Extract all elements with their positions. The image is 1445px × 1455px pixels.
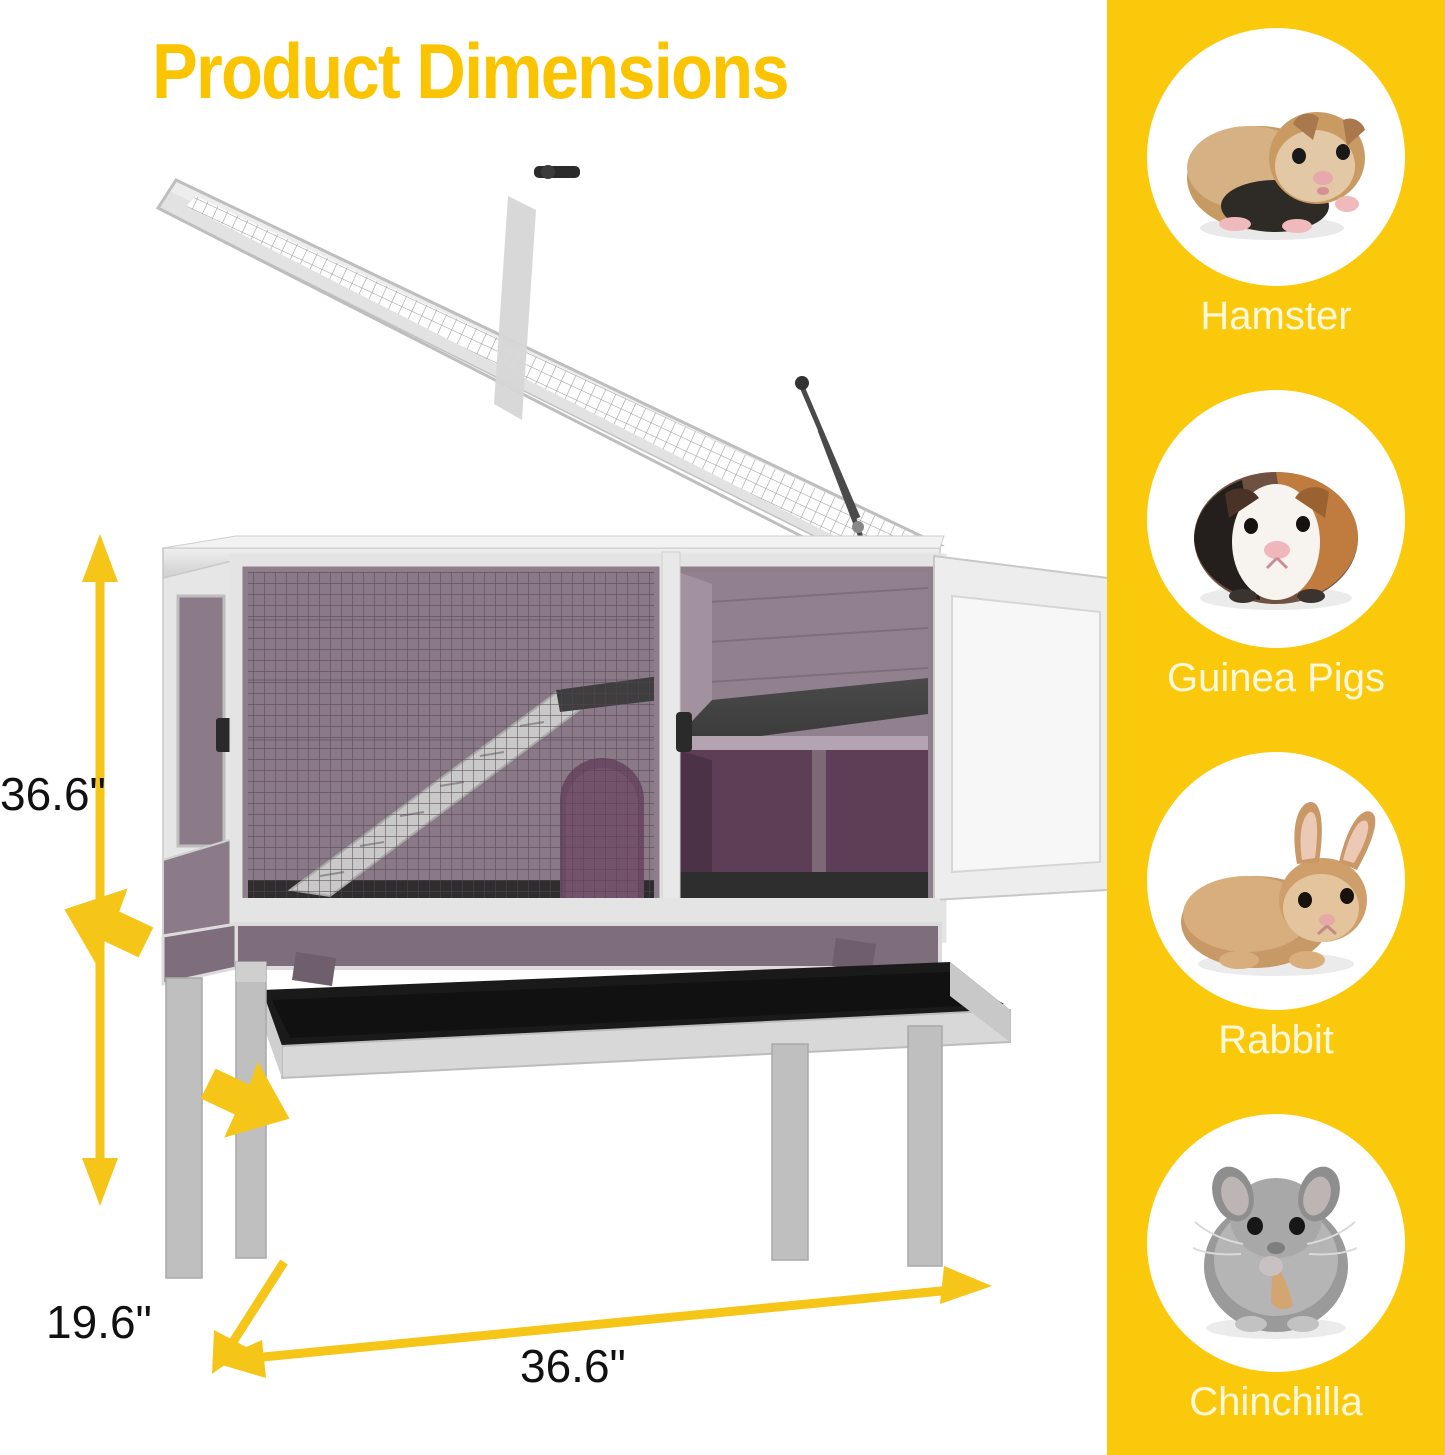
- leg-front-left: [166, 978, 202, 1278]
- pet-label-rabbit: Rabbit: [1107, 1016, 1445, 1064]
- door-latch-icon: [676, 712, 692, 752]
- hamster-icon: [1147, 28, 1405, 286]
- height-dimension-label: 36.6": [0, 768, 106, 820]
- width-dimension-label: 36.6": [520, 1340, 626, 1392]
- pull-out-tray: [262, 962, 1010, 1078]
- pet-card-guinea-pigs: Guinea Pigs: [1107, 390, 1445, 702]
- product-dimensions-infographic: Product Dimensions: [0, 0, 1445, 1455]
- hamster-photo-circle: [1147, 28, 1405, 286]
- guinea-pig-photo-circle: [1147, 390, 1405, 648]
- chinchilla-photo-circle: [1147, 1114, 1405, 1372]
- pet-label-guinea-pigs: Guinea Pigs: [1107, 654, 1445, 702]
- pet-card-rabbit: Rabbit: [1107, 752, 1445, 1064]
- pet-label-hamster: Hamster: [1107, 292, 1445, 340]
- rabbit-photo-circle: [1147, 752, 1405, 1010]
- leg-back-right: [908, 1026, 942, 1266]
- pet-card-chinchilla: Chinchilla: [1107, 1114, 1445, 1426]
- guinea-pig-icon: [1147, 390, 1405, 648]
- rabbit-icon: [1147, 752, 1405, 1010]
- tray-stop-left: [292, 952, 336, 986]
- pet-label-chinchilla: Chinchilla: [1107, 1378, 1445, 1426]
- chinchilla-icon: [1147, 1114, 1405, 1372]
- leg-back-left: [236, 962, 266, 1258]
- product-illustration: [0, 0, 1107, 1455]
- lid-latch-icon: [534, 165, 580, 179]
- hutch-door-open: [934, 556, 1107, 900]
- hutch-body: [163, 536, 1107, 1278]
- pet-card-hamster: Hamster: [1107, 28, 1445, 340]
- leg-front-right: [772, 1044, 808, 1260]
- inner-compartment: [678, 572, 928, 924]
- depth-dimension-label: 19.6": [46, 1296, 152, 1348]
- suitable-pets-sidebar: Hamster: [1107, 0, 1445, 1455]
